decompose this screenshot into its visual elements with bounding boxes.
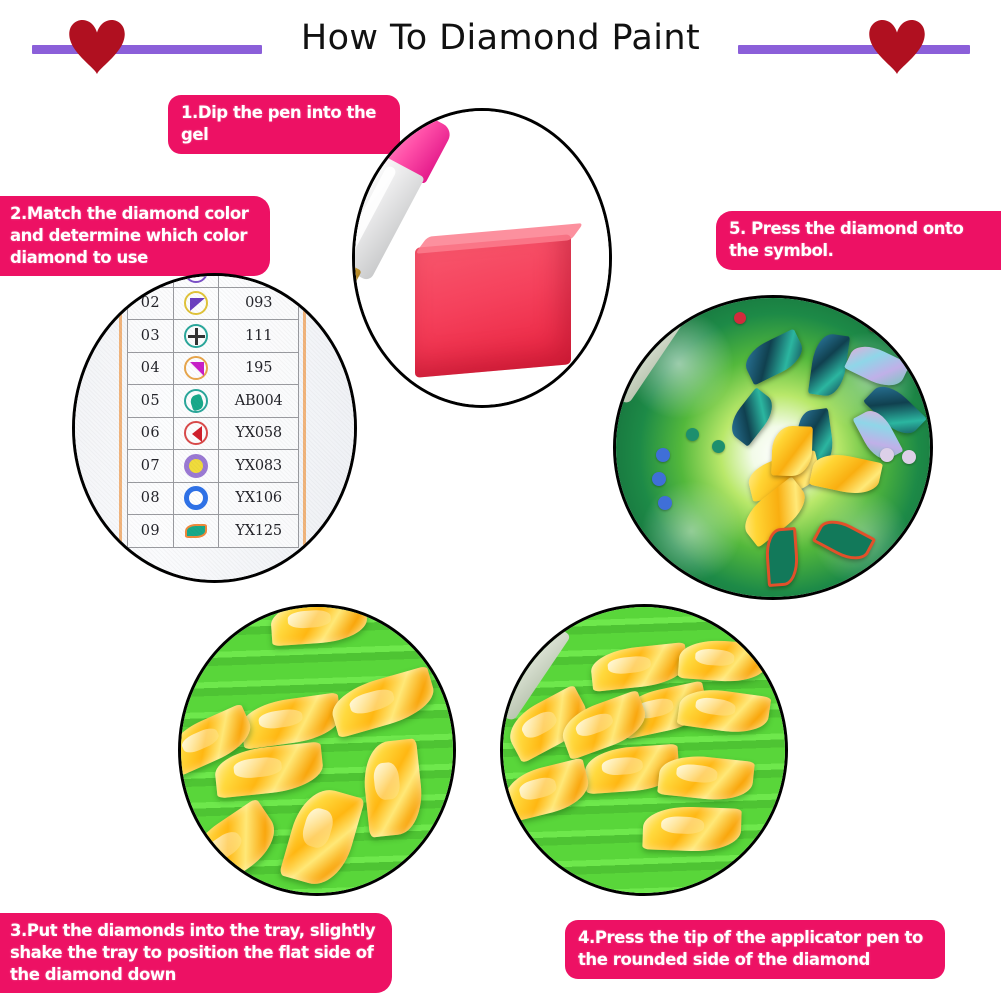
legend-code: AB004 bbox=[219, 385, 299, 418]
page-title: How To Diamond Paint bbox=[0, 18, 1001, 58]
legend-code: YX125 bbox=[219, 515, 299, 548]
table-row: 03 111 bbox=[128, 320, 299, 353]
step-2-label: 2.Match the diamond color and determine … bbox=[0, 196, 270, 276]
step-3-label: 3.Put the diamonds into the tray, slight… bbox=[0, 913, 392, 993]
plus-teal-icon bbox=[173, 320, 219, 353]
legend-chart-table: 028 02 093 03 bbox=[127, 276, 299, 548]
chevron-red-icon bbox=[173, 417, 219, 450]
table-row: 05 AB004 bbox=[128, 385, 299, 418]
legend-number bbox=[128, 276, 174, 287]
legend-code: YX058 bbox=[219, 417, 299, 450]
table-row: 06 YX058 bbox=[128, 417, 299, 450]
table-row: 02 093 bbox=[128, 287, 299, 320]
legend-code: YX083 bbox=[219, 450, 299, 483]
legend-code: 028 bbox=[219, 276, 299, 287]
ring-blue-icon bbox=[173, 482, 219, 515]
disc-yellow-icon bbox=[173, 450, 219, 483]
legend-number: 02 bbox=[128, 287, 174, 320]
table-row: 04 195 bbox=[128, 352, 299, 385]
infographic-page: How To Diamond Paint 1.Dip the pen into … bbox=[0, 0, 1001, 1001]
photo-symbol-legend-chart: 028 02 093 03 bbox=[72, 273, 357, 583]
legend-number: 05 bbox=[128, 385, 174, 418]
photo-pen-dipping-in-gel bbox=[352, 108, 612, 408]
legend-number: 03 bbox=[128, 320, 174, 353]
step-4-label: 4.Press the tip of the applicator pen to… bbox=[565, 920, 945, 979]
legend-code: 093 bbox=[219, 287, 299, 320]
gel-square bbox=[415, 234, 571, 378]
legend-number: 07 bbox=[128, 450, 174, 483]
triangle-purple-icon bbox=[173, 287, 219, 320]
photo-diamonds-in-tray bbox=[178, 604, 456, 896]
smiley-purple-icon bbox=[173, 276, 219, 287]
step-5-label: 5. Press the diamond onto the symbol. bbox=[716, 211, 1001, 270]
legend-table-body: 028 02 093 03 bbox=[128, 276, 299, 547]
legend-code: 111 bbox=[219, 320, 299, 353]
ellipse-teal-icon bbox=[173, 385, 219, 418]
leaf-teal-icon bbox=[173, 515, 219, 548]
legend-code: 195 bbox=[219, 352, 299, 385]
table-row: 07 YX083 bbox=[128, 450, 299, 483]
table-row-partial: 028 bbox=[128, 276, 299, 287]
legend-number: 06 bbox=[128, 417, 174, 450]
legend-code: YX106 bbox=[219, 482, 299, 515]
table-row: 09 YX125 bbox=[128, 515, 299, 548]
photo-placing-diamond-on-canvas bbox=[613, 295, 933, 600]
legend-number: 09 bbox=[128, 515, 174, 548]
table-row: 08 YX106 bbox=[128, 482, 299, 515]
photo-pen-picking-up-diamond bbox=[500, 604, 788, 896]
legend-number: 04 bbox=[128, 352, 174, 385]
header-banner: How To Diamond Paint bbox=[0, 0, 1001, 88]
legend-number: 08 bbox=[128, 482, 174, 515]
triangle-magenta-icon bbox=[173, 352, 219, 385]
